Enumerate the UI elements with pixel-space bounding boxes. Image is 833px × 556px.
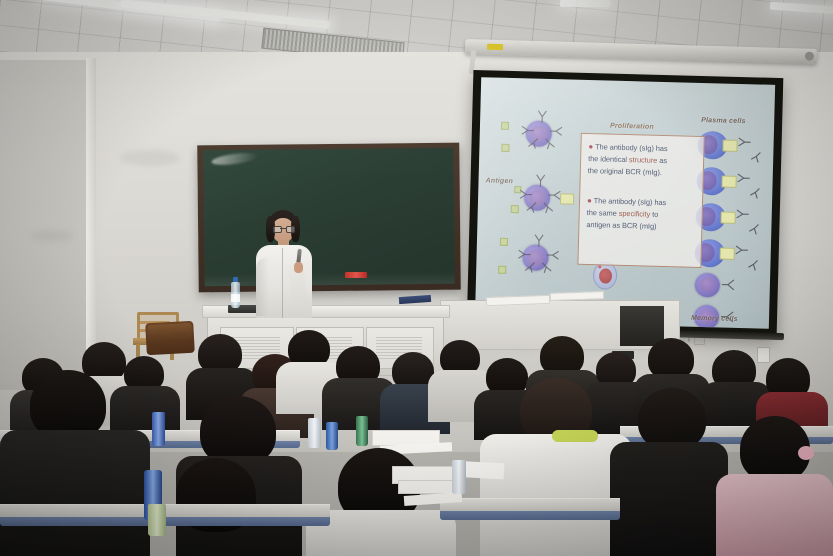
bullet-1-line-1: ● The antibody (sIg) has <box>588 142 699 154</box>
student-body-front <box>0 430 150 556</box>
secreted-antibody <box>732 200 767 239</box>
bottle-label <box>231 294 240 302</box>
bullet-1-text-b: the identical <box>588 154 629 164</box>
slide-label-antigen: Antigen <box>485 177 513 185</box>
antigen-square <box>501 144 509 152</box>
chalk-dust <box>205 272 455 287</box>
water-bottle <box>356 416 368 446</box>
wall-smudge <box>120 150 180 166</box>
slide-label-proliferation: Proliferation <box>610 123 654 131</box>
water-bottle <box>326 422 338 450</box>
chalkboard-surface <box>203 148 454 287</box>
glasses-icon <box>273 226 293 231</box>
desk-surface-front <box>440 498 620 511</box>
antibody-packet <box>560 193 574 204</box>
housing-label <box>487 44 503 50</box>
bottle-cap <box>233 277 238 282</box>
textbook <box>398 480 456 494</box>
water-bottle-podium <box>231 282 240 308</box>
coat-shading <box>256 258 269 316</box>
memory-cell-nucleus <box>700 277 715 292</box>
memory-cell <box>695 273 721 298</box>
bullet-1-line-2: the identical structure as <box>588 154 699 166</box>
hair-tie <box>798 446 814 460</box>
bullet-2-text-b: the same <box>587 208 619 218</box>
collar-accent <box>552 430 598 442</box>
bullet-1-text-d: the original BCR (mIg). <box>588 166 662 177</box>
chalkboard <box>197 143 461 293</box>
bullet-glyph: ● <box>587 196 592 205</box>
ceiling-light-reflection <box>560 0 610 7</box>
germinal-center-dot <box>598 265 601 268</box>
lecture-hall-photograph: Antigen <box>0 0 833 556</box>
projection-screen-surface: Antigen <box>475 77 775 329</box>
water-bottle <box>308 418 321 448</box>
bullet-1-text-a: The antibody (sIg) has <box>595 142 668 153</box>
slide-label-plasma-cells: Plasma cells <box>701 117 746 125</box>
memory-cell-receptor <box>718 273 741 296</box>
lecturer <box>250 210 324 318</box>
wall-smudge <box>30 230 74 242</box>
bullet-1-line-3: the original BCR (mIg). <box>588 166 699 178</box>
student-body-front <box>610 442 728 556</box>
bullet-1-text-c: as <box>657 156 667 165</box>
water-bottle <box>452 460 466 494</box>
secreted-antibody <box>734 128 769 167</box>
student-head-front <box>638 388 706 450</box>
bullet-1-highlight: structure <box>629 155 658 165</box>
antigen-square <box>501 122 509 130</box>
germinal-center-nucleus <box>599 268 612 283</box>
bullet-2-line-2: the same specificity to <box>587 208 698 220</box>
antigen-square <box>498 266 506 274</box>
audience <box>0 318 833 556</box>
antigen-square <box>500 238 508 246</box>
bullet-2-line-1: ● The antibody (sIg) has <box>587 196 698 208</box>
secreted-antibody <box>733 164 768 203</box>
bullet-2-text-d: antigen as BCR (mIg) <box>586 220 656 231</box>
student-body <box>110 386 180 436</box>
secreted-antibody <box>731 236 766 275</box>
bullet-2-text-c: to <box>650 210 658 219</box>
bullet-2-line-3: antigen as BCR (mIg) <box>586 220 697 232</box>
bcr-receptor-cluster <box>513 104 571 165</box>
housing-endcap <box>805 52 814 61</box>
bullet-2-highlight: specificity <box>619 209 651 219</box>
lecturer-hand <box>294 262 303 273</box>
bullet-glyph: ● <box>588 142 593 151</box>
water-bottle <box>148 504 166 536</box>
immunology-slide: Antigen <box>475 77 775 329</box>
coat-seam <box>282 248 283 318</box>
water-bottle <box>152 412 165 446</box>
glasses-lens-right <box>286 226 295 233</box>
slide-textbox: ● The antibody (sIg) has the identical s… <box>577 133 704 268</box>
bullet-2-text-a: The antibody (sIg) has <box>594 196 667 207</box>
red-chalk-box <box>345 272 367 278</box>
chalkboard-glare <box>211 151 258 167</box>
student-body-front <box>716 474 833 556</box>
bcr-receptor-cluster <box>510 228 568 289</box>
